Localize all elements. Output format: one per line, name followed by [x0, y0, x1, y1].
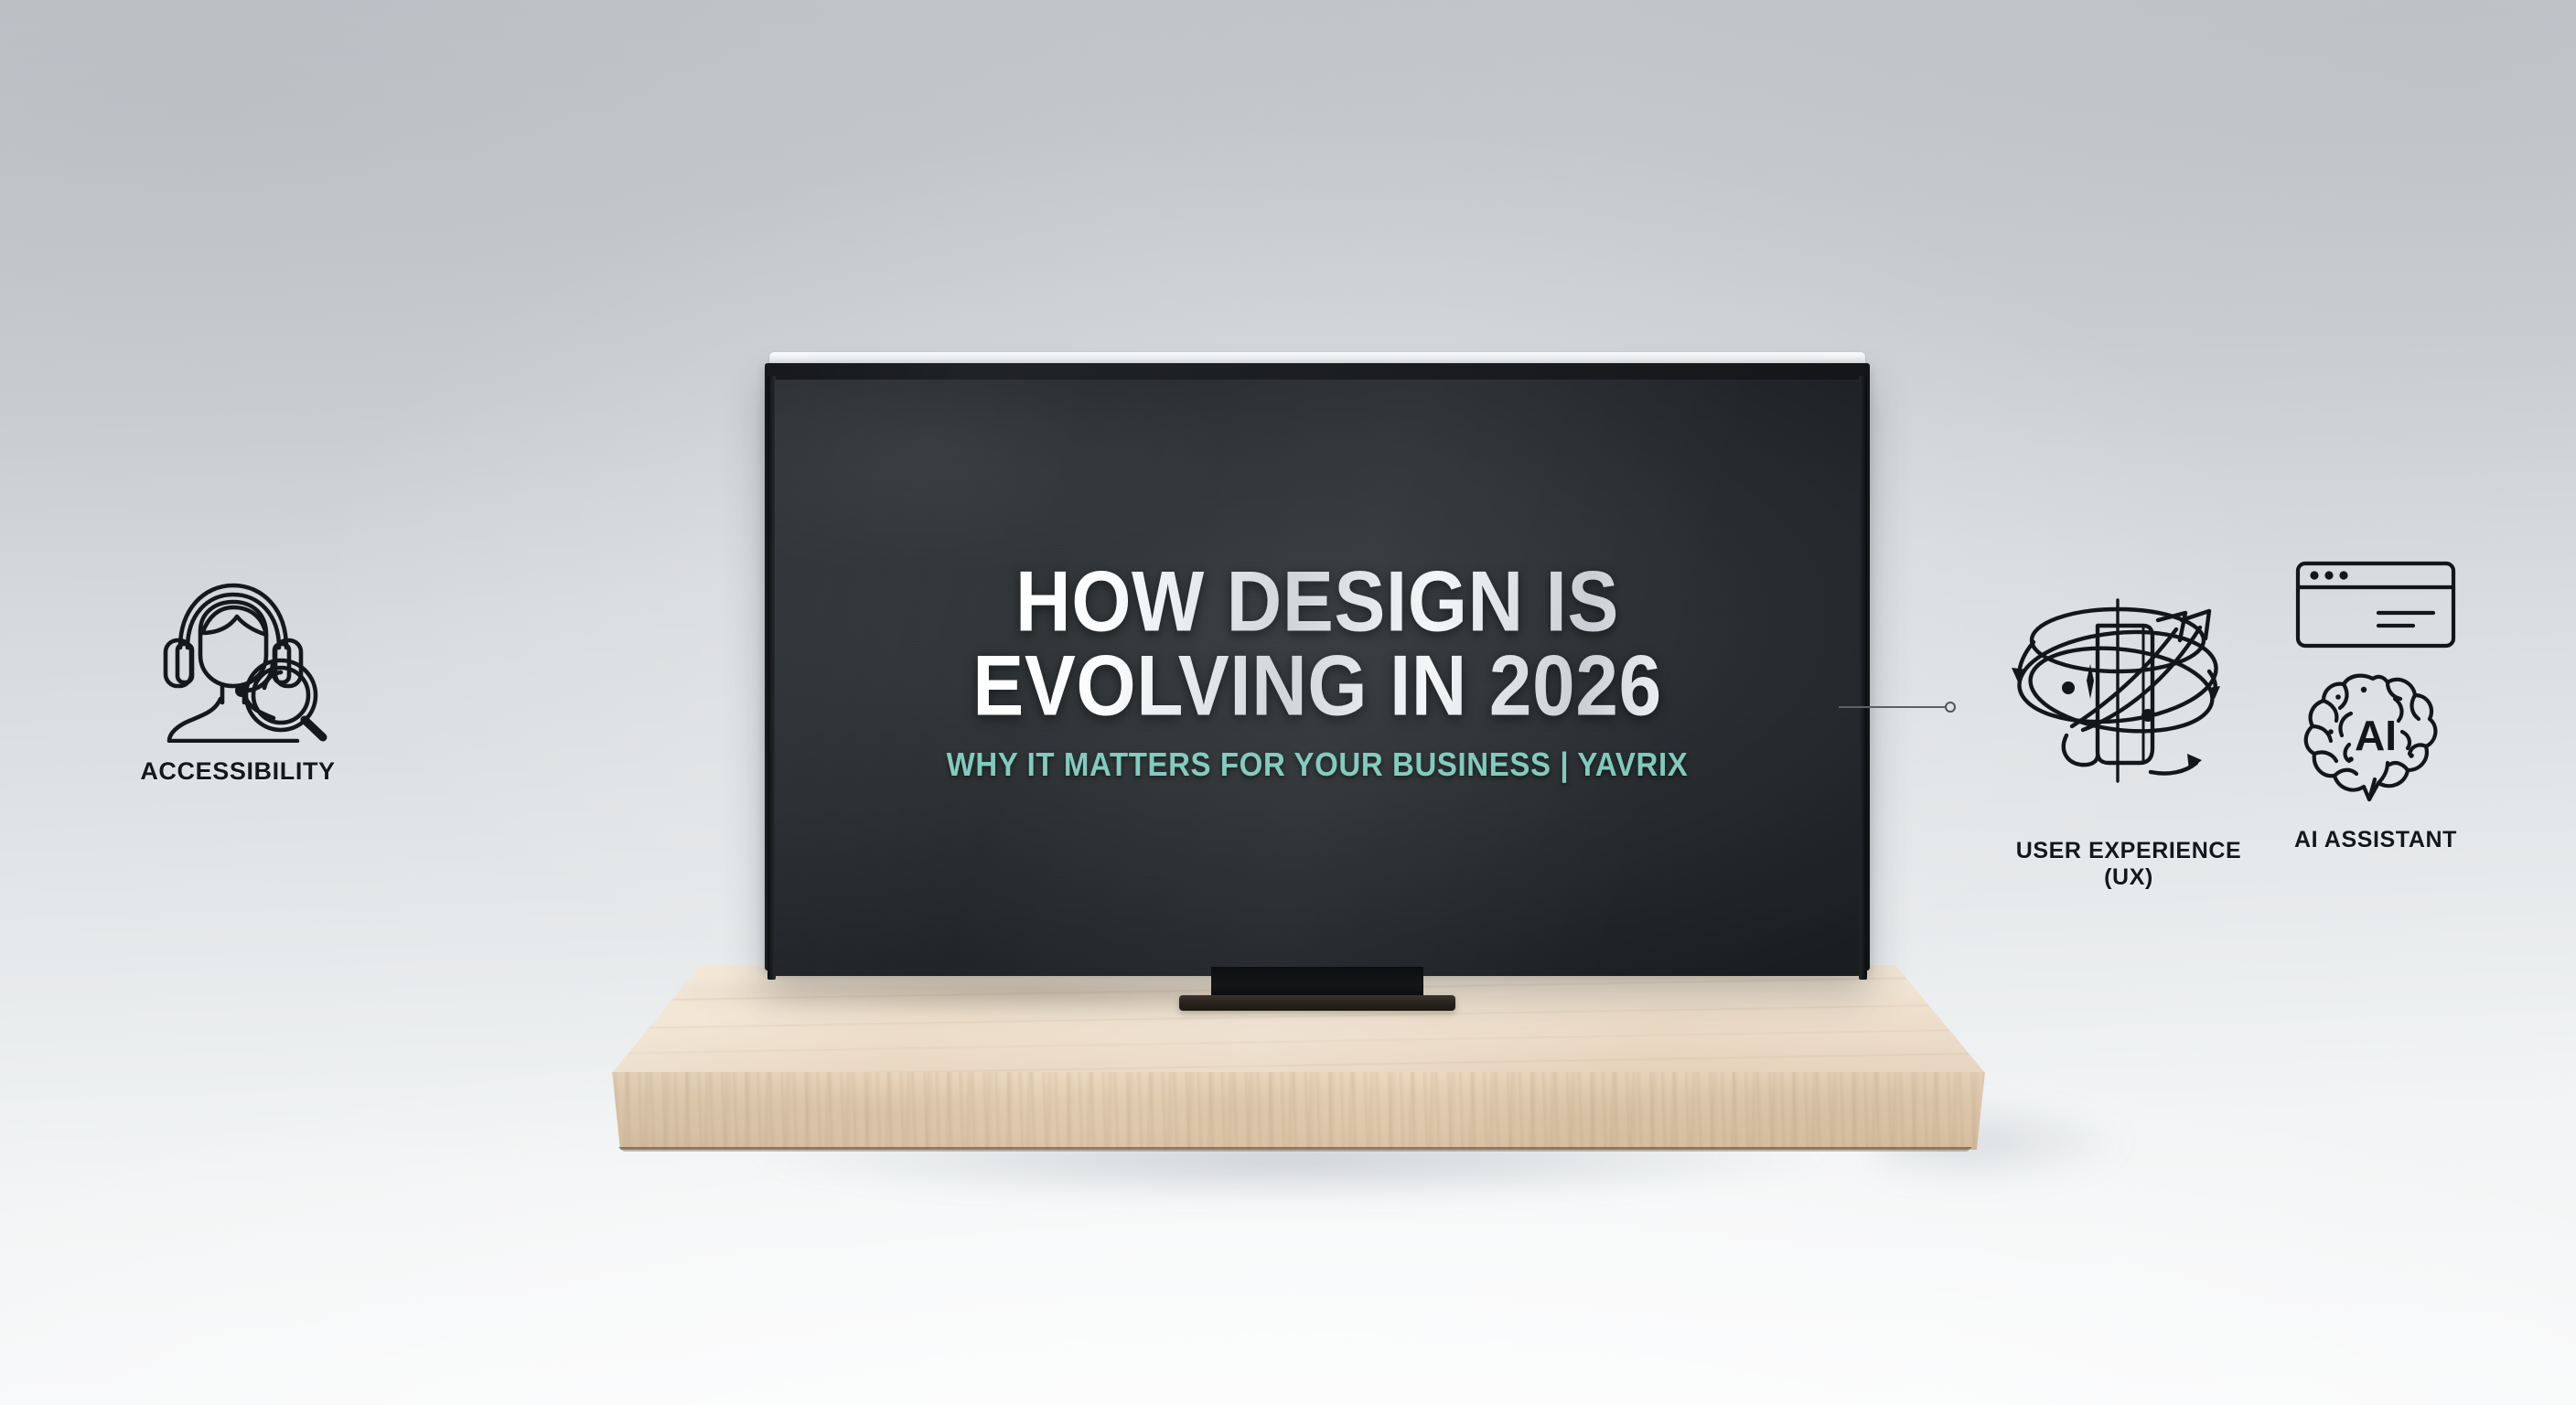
orbital-arrows-ux-icon — [2006, 569, 2251, 825]
callout-connector-line — [1839, 702, 1959, 713]
tv-stand-base — [1179, 995, 1455, 1011]
tv-bezel-right — [1859, 376, 1867, 980]
wood-front-face — [604, 1072, 1985, 1150]
ux-label-line1: USER EXPERIENCE — [2016, 838, 2242, 863]
annotation-label-user-experience: USER EXPERIENCE (UX) — [2016, 838, 2242, 891]
brain-ai-icon: AI — [2292, 666, 2459, 812]
annotation-label-ai-assistant: AI ASSISTANT — [2294, 827, 2457, 853]
slide-title: HOW DESIGN IS EVOLVING IN 2026 — [972, 559, 1661, 727]
connector-line-segment — [1839, 706, 1947, 708]
browser-window-icon — [2294, 560, 2457, 649]
tv-bezel: HOW DESIGN IS EVOLVING IN 2026 WHY IT MA… — [765, 363, 1870, 971]
slide-content: HOW DESIGN IS EVOLVING IN 2026 WHY IT MA… — [775, 380, 1860, 976]
ux-label-line2: (UX) — [2104, 864, 2153, 890]
wood-bottom-edge — [613, 1147, 1978, 1152]
connector-endpoint-dot — [1945, 702, 1956, 713]
annotation-user-experience[interactable]: USER EXPERIENCE (UX) — [1991, 569, 2266, 891]
svg-text:AI: AI — [2355, 712, 2397, 759]
tv-stand-neck — [1211, 967, 1423, 998]
slide-subtitle: WHY IT MATTERS FOR YOUR BUSINESS | YAVRI… — [947, 745, 1689, 784]
scene-stage: HOW DESIGN IS EVOLVING IN 2026 WHY IT MA… — [0, 0, 2576, 1405]
headset-person-magnifier-icon — [142, 560, 334, 743]
annotation-label-accessibility: ACCESSIBILITY — [140, 757, 335, 786]
tv-screen[interactable]: HOW DESIGN IS EVOLVING IN 2026 WHY IT MA… — [775, 380, 1860, 976]
annotation-ai-assistant[interactable]: AI AI ASSISTANT — [2270, 560, 2481, 853]
television[interactable]: HOW DESIGN IS EVOLVING IN 2026 WHY IT MA… — [765, 352, 1870, 991]
annotation-accessibility[interactable]: ACCESSIBILITY — [128, 560, 348, 786]
